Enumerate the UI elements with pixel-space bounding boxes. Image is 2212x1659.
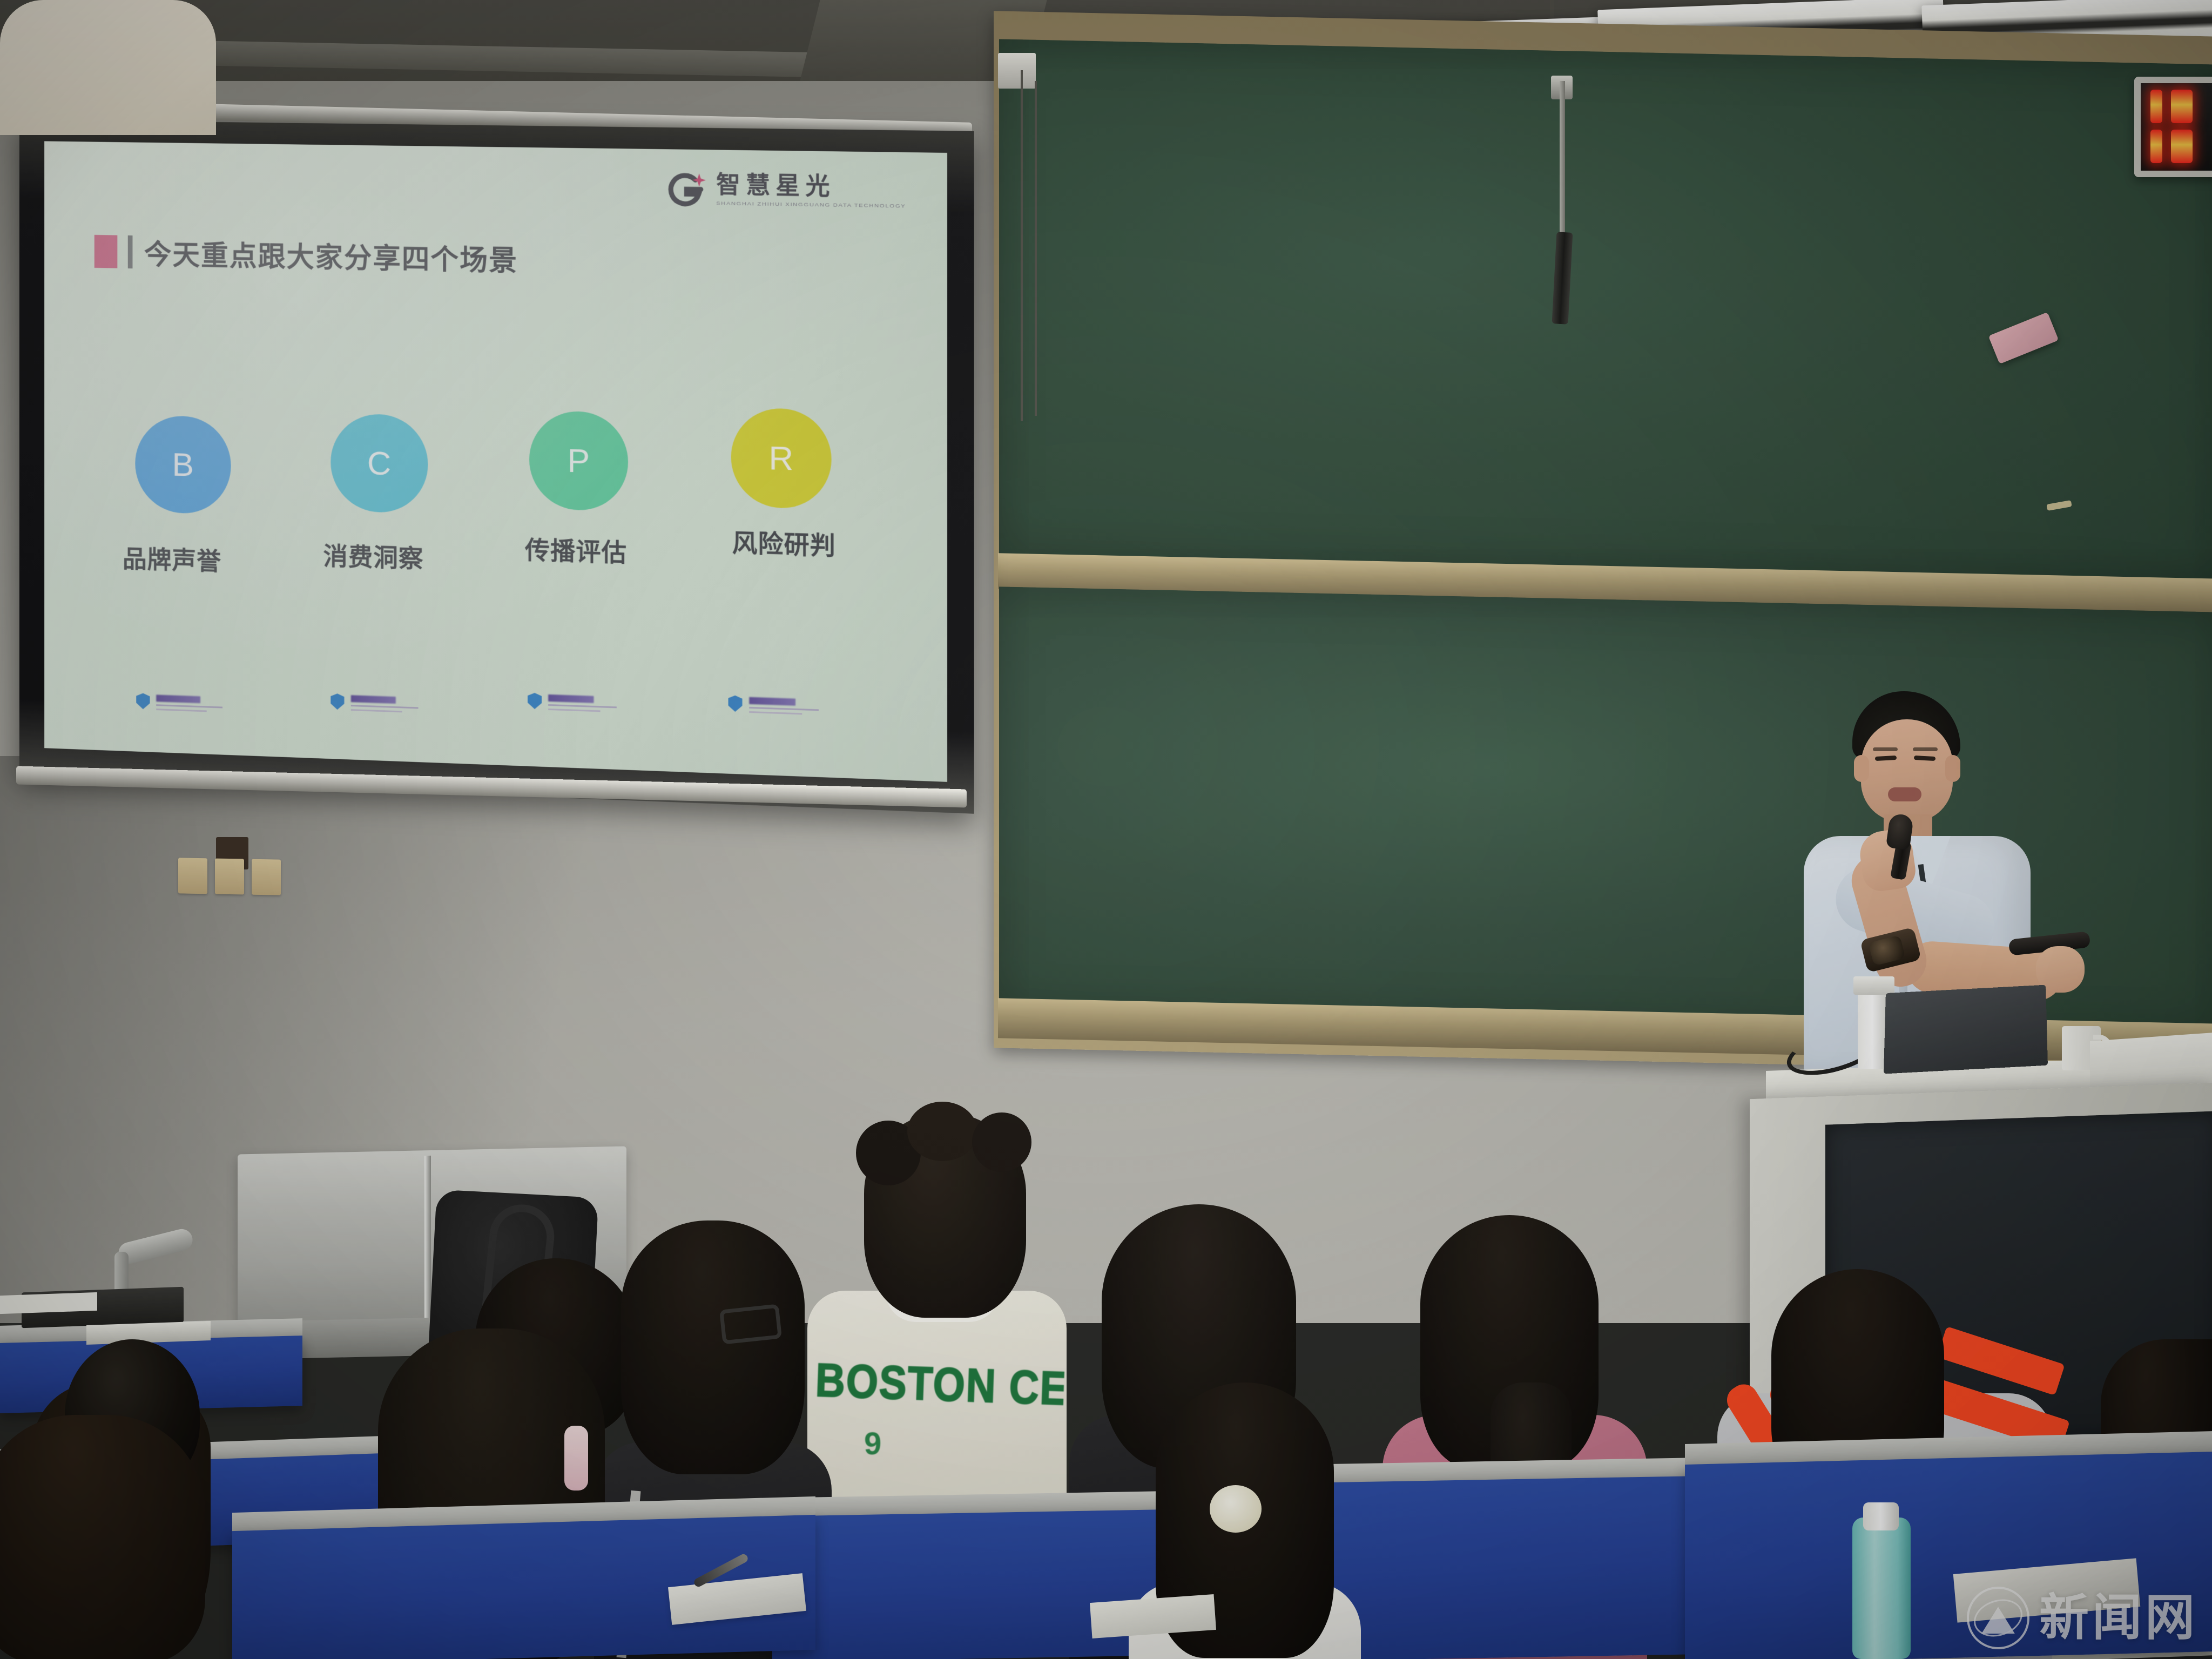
glasses-icon (719, 1304, 782, 1344)
scene-bubble-letter: P (529, 410, 628, 511)
brand-subtitle: SHANGHAI ZHIHUI XINGGUANG DATA TECHNOLOG… (716, 200, 906, 208)
student-cream-top (0, 0, 216, 135)
led-digit-row (2141, 123, 2212, 163)
led-clock-display (2134, 77, 2212, 177)
shield-icon (331, 693, 345, 710)
badge-underline (350, 709, 402, 712)
badge-caption (156, 694, 200, 703)
chalkboard-upper-panel (999, 39, 2212, 583)
presenter-eyebrow (1913, 747, 1938, 751)
jersey-text: BOSTON CELTICS (814, 1353, 1064, 1415)
scene-label: 消费洞察 (323, 536, 423, 575)
hanging-wire (1035, 81, 1037, 416)
shield-icon (728, 695, 742, 712)
scene-label: 品牌声誉 (123, 539, 221, 577)
spray-bottle-nozzle[interactable] (1853, 976, 1894, 995)
badge-underline (548, 704, 617, 708)
student-hair-curl (907, 1102, 977, 1161)
scene-label: 传播评估 (525, 530, 627, 569)
wall-outlet[interactable] (178, 858, 207, 894)
scene-item-communication-evaluation: P 传播评估 (516, 401, 718, 571)
hanging-wire (1021, 70, 1023, 421)
bench-seam (424, 1156, 431, 1328)
title-accent-bar (128, 235, 133, 268)
scene-badge (331, 682, 528, 737)
shield-icon (528, 693, 542, 710)
g-plus-star-logo-icon (665, 167, 707, 211)
badge-underline (749, 711, 802, 714)
scene-badge (728, 695, 932, 752)
badge-underline (749, 707, 819, 711)
water-bottle[interactable] (1852, 1518, 1911, 1659)
slide-title-row: 今天重点跟大家分享四个场景 (95, 231, 518, 279)
scene-bubble-row: B 品牌声誉 C 消费洞察 P 传播评估 R 风险研判 (123, 392, 922, 696)
led-digit-row (2141, 83, 2212, 123)
badge-caption (749, 697, 795, 706)
badge-caption (350, 695, 395, 704)
scene-bubble-letter: C (331, 413, 428, 514)
student-desk (1685, 1452, 2212, 1659)
presenter-ear (1854, 755, 1869, 782)
wall-outlet[interactable] (252, 859, 281, 895)
led-digit (2150, 130, 2162, 163)
scene-badge (136, 675, 331, 730)
wall-outlet[interactable] (215, 859, 244, 895)
spray-bottle[interactable] (1858, 988, 1887, 1069)
wall-junction-box (998, 53, 1036, 89)
led-digit (2150, 90, 2162, 123)
scene-item-consumer-insight: C 消费洞察 (318, 397, 516, 578)
student-hair-curl (972, 1112, 1031, 1172)
hair-clip (564, 1426, 588, 1491)
led-digit (2171, 90, 2193, 123)
pointer-rod[interactable] (1560, 81, 1565, 243)
led-digit (2171, 130, 2193, 163)
brand-logo: 智慧星光 SHANGHAI ZHIHUI XINGGUANG DATA TECH… (665, 167, 906, 213)
presenter-mouth (1888, 787, 1921, 801)
desk-paper[interactable] (0, 1292, 97, 1314)
badge-underline (350, 705, 418, 709)
student-head (621, 1220, 805, 1474)
presenter-eyebrow (1873, 747, 1898, 751)
student-head (0, 1415, 205, 1659)
badge-underline (156, 704, 222, 708)
slide-title: 今天重点跟大家分享四个场景 (144, 232, 518, 279)
wall-outlet-group (178, 858, 281, 895)
podium-monitor[interactable] (1884, 985, 2048, 1074)
title-accent-chip (95, 234, 117, 268)
presenter-face (1861, 719, 1953, 822)
shield-icon (136, 693, 150, 709)
scene-item-brand-reputation: B 品牌声誉 (123, 392, 318, 580)
lecture-hall-photo: 智慧星光 SHANGHAI ZHIHUI XINGGUANG DATA TECH… (0, 0, 2212, 1659)
badge-underline (156, 709, 207, 712)
badge-caption (548, 694, 594, 703)
badge-underline (548, 709, 601, 712)
scene-bubble-letter: R (731, 407, 832, 509)
scene-label: 风险研判 (732, 523, 836, 562)
scene-badge (528, 689, 728, 745)
projector-screen[interactable]: 智慧星光 SHANGHAI ZHIHUI XINGGUANG DATA TECH… (19, 120, 974, 814)
presenter-ear (1945, 755, 1960, 782)
scene-bubble-letter: B (135, 415, 231, 514)
jersey-number: 9 (864, 1426, 881, 1462)
student-body (0, 0, 216, 135)
hair-scrunchie (1210, 1485, 1262, 1533)
brand-name: 智慧星光 (716, 173, 906, 200)
scene-item-risk-assessment: R 风险研判 (718, 406, 922, 565)
presentation-slide: 智慧星光 SHANGHAI ZHIHUI XINGGUANG DATA TECH… (44, 141, 947, 781)
water-bottle-cap[interactable] (1863, 1502, 1899, 1530)
